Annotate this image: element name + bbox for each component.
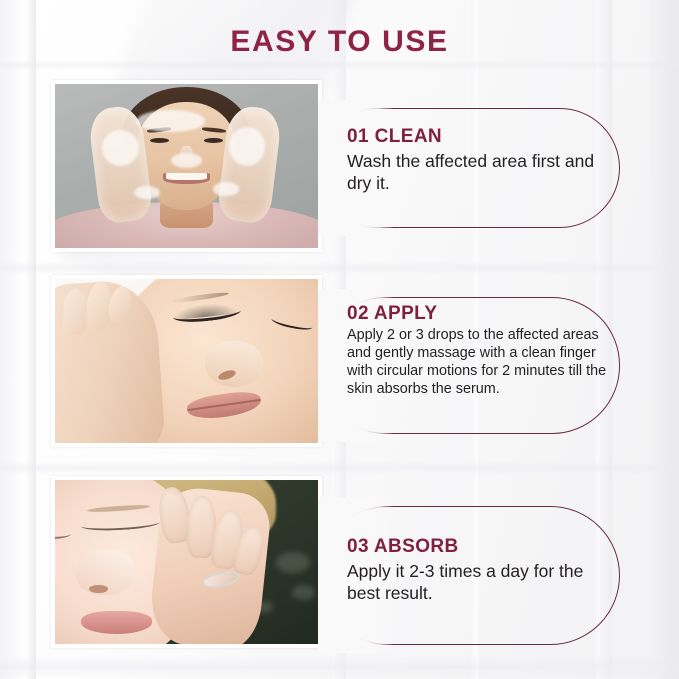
background-panel-1 [0,0,26,679]
step-3-photo [51,476,322,648]
page-title: EASY TO USE [0,25,679,59]
photo1-teeth [166,173,208,179]
photo1-foam-forehead [137,110,205,131]
photo1-foam-hand-right [229,127,266,166]
easy-to-use-infographic: EASY TO USE [0,0,679,679]
step-3-photo-inner [55,480,318,644]
step-2-photo-inner [55,279,318,443]
step-3-body: Apply it 2-3 times a day for the best re… [347,560,599,605]
step-2-heading: 02 APPLY [347,303,609,325]
photo3-bokeh-2 [292,585,316,600]
step-1-heading: 01 CLEAN [347,126,597,148]
photo1-smile [163,173,210,184]
photo1-foam-hand-left [102,130,139,166]
step-1-body: Wash the affected area first and dry it. [347,150,597,195]
photo1-foam-nose [171,153,203,168]
step-3-text: 03 ABSORB Apply it 2-3 times a day for t… [347,536,599,605]
background-band-3 [0,462,679,474]
background-band-1 [0,60,679,70]
step-3-heading: 03 ABSORB [347,536,599,558]
background-band-4 [0,655,679,679]
photo2-nose [205,341,263,387]
step-1-text: 01 CLEAN Wash the affected area first an… [347,126,597,195]
step-2-photo [51,275,322,447]
background-band-2 [0,262,679,274]
photo1-foam-cheek-right [213,182,239,195]
background-panel-6 [650,0,679,679]
photo2-finger-2 [62,288,87,335]
step-1-photo-inner [55,84,318,248]
step-2-text: 02 APPLY Apply 2 or 3 drops to the affec… [347,303,609,398]
photo3-nostril [89,585,107,593]
background-panel-2 [26,0,36,679]
step-1-photo [51,80,322,252]
photo1-foam-cheek-left [134,186,160,199]
step-2-body: Apply 2 or 3 drops to the affected areas… [347,327,609,398]
